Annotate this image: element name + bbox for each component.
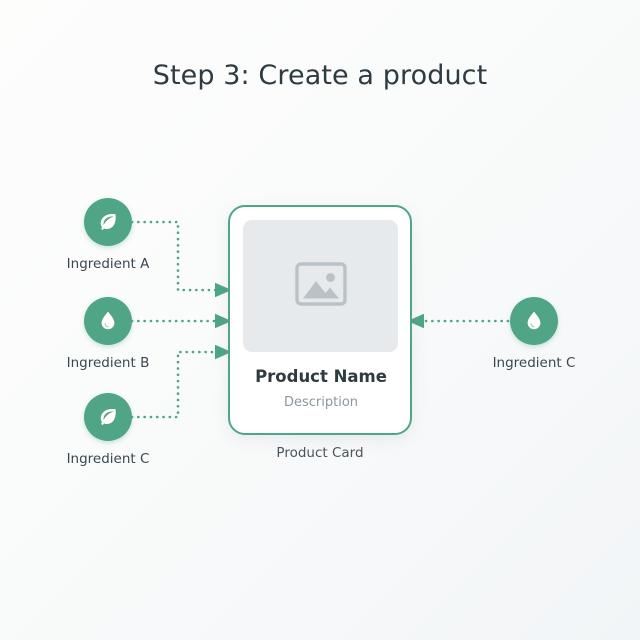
node-ingredient-c-right[interactable]: Ingredient C — [474, 297, 594, 371]
ingredient-label: Ingredient A — [48, 256, 168, 272]
leaf-icon — [96, 210, 120, 234]
product-card[interactable]: Product Name Description — [228, 205, 412, 435]
droplet-icon — [96, 309, 120, 333]
product-card-caption: Product Card — [228, 445, 412, 461]
node-ingredient-c-left[interactable]: Ingredient C — [48, 393, 168, 467]
ingredient-label: Ingredient C — [48, 451, 168, 467]
leaf-icon — [96, 405, 120, 429]
node-ingredient-a[interactable]: Ingredient A — [48, 198, 168, 272]
product-image-placeholder[interactable] — [243, 220, 398, 352]
ingredient-label: Ingredient B — [48, 355, 168, 371]
product-description: Description — [230, 395, 412, 410]
ingredient-badge[interactable] — [84, 198, 132, 246]
node-ingredient-b[interactable]: Ingredient B — [48, 297, 168, 371]
ingredient-badge[interactable] — [84, 297, 132, 345]
ingredient-label: Ingredient C — [474, 355, 594, 371]
image-placeholder-icon — [294, 260, 348, 312]
droplet-icon — [522, 309, 546, 333]
ingredient-badge[interactable] — [510, 297, 558, 345]
diagram-canvas: Step 3: Create a product — [0, 0, 640, 640]
ingredient-badge[interactable] — [84, 393, 132, 441]
product-name: Product Name — [230, 367, 412, 386]
